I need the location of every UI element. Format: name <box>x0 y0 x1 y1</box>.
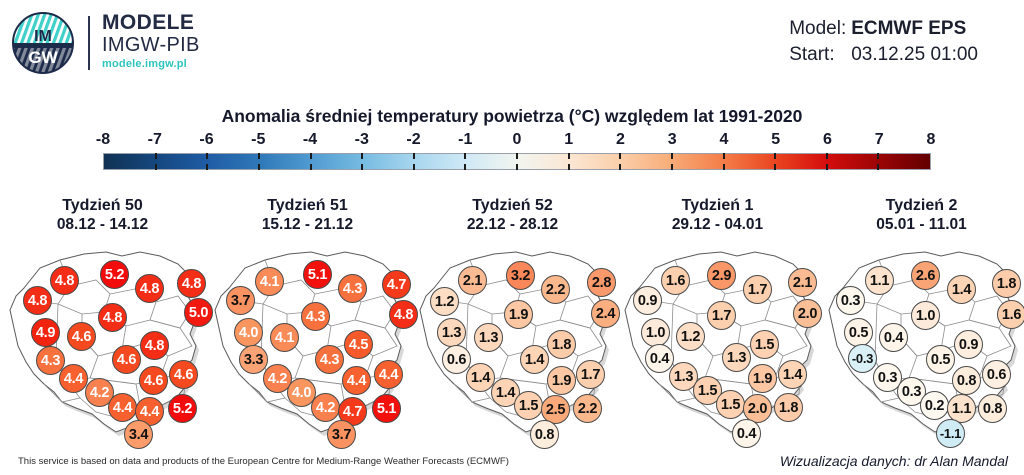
colorbar-dash <box>206 164 208 170</box>
anomaly-bubble: 2.8 <box>587 268 616 297</box>
week-label: Tydzień 52 <box>410 196 615 215</box>
anomaly-bubble: 3.7 <box>226 286 255 315</box>
anomaly-bubble: 3.2 <box>506 261 535 290</box>
colorbar-tick--4: -4 <box>303 131 317 149</box>
logo-divider <box>88 16 90 70</box>
anomaly-bubble: 1.1 <box>865 266 894 295</box>
anomaly-bubble: 4.4 <box>342 366 371 395</box>
anomaly-bubble: 4.6 <box>169 360 198 389</box>
anomaly-bubble: 0.2 <box>920 391 949 420</box>
poland-map: 4.85.24.84.84.85.04.84.94.64.84.34.64.44… <box>0 242 205 442</box>
anomaly-bubble: -1.1 <box>936 419 965 448</box>
anomaly-bubble: 1.4 <box>520 345 549 374</box>
weather-anomaly-infographic: IM GW MODELE IMGW-PIB modele.imgw.pl Mod… <box>0 0 1024 475</box>
colorbar-tick--8: -8 <box>96 131 110 149</box>
colorbar-tick-7: 7 <box>875 131 884 149</box>
imgw-circle-logo-icon: IM GW <box>12 12 74 74</box>
anomaly-bubble: 0.3 <box>836 286 865 315</box>
colorbar-tick-0: 0 <box>513 131 522 149</box>
anomaly-bubble: 0.6 <box>982 360 1011 389</box>
date-range-label: 22.12 - 28.12 <box>410 215 615 234</box>
colorbar-dash <box>826 164 828 170</box>
colorbar-dash <box>310 153 312 159</box>
anomaly-bubble: 2.1 <box>458 266 487 295</box>
anomaly-bubble: 4.5 <box>344 330 373 359</box>
anomaly-bubble: 1.5 <box>750 330 779 359</box>
anomaly-bubble: 1.4 <box>947 275 976 304</box>
colorbar-tick--2: -2 <box>406 131 420 149</box>
anomaly-bubble: 4.3 <box>338 274 367 303</box>
colorbar-dash <box>774 164 776 170</box>
anomaly-bubble: 2.0 <box>793 299 822 328</box>
colorbar-dash <box>877 164 879 170</box>
anomaly-bubble: 4.4 <box>59 364 88 393</box>
model-label: Model: <box>789 16 851 42</box>
colorbar-dash <box>155 153 157 159</box>
anomaly-bubble: 5.2 <box>168 394 197 423</box>
anomaly-bubble: 0.5 <box>844 318 873 347</box>
colorbar-tick--3: -3 <box>355 131 369 149</box>
colorbar-dash <box>619 164 621 170</box>
anomaly-bubble: 2.2 <box>541 275 570 304</box>
colorbar-dash <box>258 153 260 159</box>
anomaly-bubble: 0.4 <box>645 344 674 373</box>
anomaly-bubble: 0.8 <box>978 394 1007 423</box>
brand-logo[interactable]: IM GW MODELE IMGW-PIB modele.imgw.pl <box>12 12 272 76</box>
colorbar-tick-1: 1 <box>564 131 573 149</box>
week-label: Tydzień 2 <box>819 196 1024 215</box>
colorbar-tick-6: 6 <box>823 131 832 149</box>
anomaly-bubble: 4.8 <box>140 331 169 360</box>
anomaly-bubble: 0.5 <box>926 345 955 374</box>
anomaly-bubble: 4.8 <box>50 266 79 295</box>
anomaly-bubble: 4.8 <box>177 269 206 298</box>
poland-map: 1.62.91.72.10.92.01.71.01.21.50.41.31.31… <box>615 242 820 442</box>
anomaly-bubble: 1.7 <box>707 301 736 330</box>
anomaly-bubble: 1.8 <box>547 330 576 359</box>
anomaly-bubble: 4.7 <box>382 270 411 299</box>
poland-map: 4.15.14.34.73.74.84.34.04.14.53.34.34.24… <box>205 242 410 442</box>
anomaly-bubble: 0.8 <box>952 366 981 395</box>
anomaly-bubble: 4.3 <box>315 345 344 374</box>
anomaly-bubble: 4.2 <box>311 393 340 422</box>
colorbar-tick--6: -6 <box>199 131 213 149</box>
anomaly-bubble: 1.3 <box>437 318 466 347</box>
colorbar-dash <box>413 164 415 170</box>
anomaly-bubble: 4.1 <box>255 267 284 296</box>
anomaly-bubble: 1.6 <box>997 300 1024 329</box>
colorbar-tick-4: 4 <box>720 131 729 149</box>
colorbar: -8-7-6-5-4-3-2-1012345678 <box>103 131 931 170</box>
map-panel-5: Tydzień 205.01 - 11.011.12.61.41.80.31.6… <box>819 196 1024 446</box>
anomaly-bubble: 1.3 <box>474 323 503 352</box>
colorbar-tick-3: 3 <box>668 131 677 149</box>
anomaly-bubble: 0.8 <box>530 420 559 449</box>
colorbar-tick-5: 5 <box>771 131 780 149</box>
colorbar-tick--1: -1 <box>458 131 472 149</box>
colorbar-dash <box>258 164 260 170</box>
model-row: Model: ECMWF EPS <box>789 16 978 42</box>
footer-credit: This service is based on data and produc… <box>18 456 509 467</box>
start-row: Start: 03.12.25 01:00 <box>789 42 978 68</box>
colorbar-dash <box>619 153 621 159</box>
anomaly-bubble: 3.7 <box>327 420 356 449</box>
colorbar-tick-labels: -8-7-6-5-4-3-2-1012345678 <box>103 131 931 153</box>
brand-url[interactable]: modele.imgw.pl <box>102 59 200 70</box>
colorbar-dash <box>361 164 363 170</box>
footer-author: Wizualizacja danych: dr Alan Mandal <box>780 453 1008 469</box>
colorbar-dash <box>723 153 725 159</box>
anomaly-bubble: 4.4 <box>374 360 403 389</box>
anomaly-bubble: 1.2 <box>676 322 705 351</box>
map-panel-header: Tydzień 5222.12 - 28.12 <box>410 196 615 234</box>
colorbar-dash <box>516 153 518 159</box>
anomaly-bubble: 4.4 <box>108 393 137 422</box>
colorbar-tick--7: -7 <box>148 131 162 149</box>
colorbar-dash <box>413 153 415 159</box>
anomaly-bubble: 1.9 <box>547 366 576 395</box>
model-info: Model: ECMWF EPS Start: 03.12.25 01:00 <box>789 16 978 68</box>
anomaly-bubble: 1.7 <box>743 275 772 304</box>
anomaly-bubble: 1.5 <box>716 390 745 419</box>
anomaly-bubble: 4.8 <box>135 274 164 303</box>
anomaly-bubble: 4.8 <box>98 303 127 332</box>
colorbar-dash <box>877 153 879 159</box>
map-panel-header: Tydzień 5008.12 - 14.12 <box>0 196 205 234</box>
colorbar-dash <box>671 153 673 159</box>
colorbar-dash <box>516 164 518 170</box>
colorbar-dash <box>310 164 312 170</box>
anomaly-bubble: 4.8 <box>23 286 52 315</box>
map-panel-4: Tydzień 129.12 - 04.011.62.91.72.10.92.0… <box>615 196 820 446</box>
anomaly-bubble: 2.9 <box>707 261 736 290</box>
anomaly-bubble: 1.8 <box>992 269 1021 298</box>
map-panels: Tydzień 5008.12 - 14.124.85.24.84.84.85.… <box>0 196 1024 446</box>
colorbar-dash <box>464 153 466 159</box>
brand-line-2: IMGW-PIB <box>102 35 200 55</box>
map-panel-header: Tydzień 205.01 - 11.01 <box>819 196 1024 234</box>
anomaly-bubble: 4.6 <box>112 345 141 374</box>
anomaly-bubble: 5.2 <box>100 260 129 289</box>
map-panel-header: Tydzień 5115.12 - 21.12 <box>205 196 410 234</box>
anomaly-bubble: 1.4 <box>778 360 807 389</box>
colorbar-dash <box>774 153 776 159</box>
date-range-label: 05.01 - 11.01 <box>819 215 1024 234</box>
anomaly-bubble: 1.7 <box>576 360 605 389</box>
anomaly-bubble: 3.3 <box>239 345 268 374</box>
svg-text:IM: IM <box>34 28 52 45</box>
anomaly-bubble: 1.3 <box>722 343 751 372</box>
colorbar-dash <box>464 164 466 170</box>
anomaly-bubble: 4.6 <box>67 322 96 351</box>
date-range-label: 08.12 - 14.12 <box>0 215 205 234</box>
colorbar-dash <box>206 153 208 159</box>
anomaly-bubble: -0.3 <box>848 344 877 373</box>
anomaly-bubble: 1.6 <box>661 266 690 295</box>
anomaly-bubble: 1.0 <box>911 301 940 330</box>
date-range-label: 15.12 - 21.12 <box>205 215 410 234</box>
colorbar-dash <box>361 153 363 159</box>
colorbar-dash <box>671 164 673 170</box>
start-value: 03.12.25 01:00 <box>851 42 978 68</box>
anomaly-bubble: 0.4 <box>732 419 761 448</box>
poland-map: 1.12.61.41.80.31.61.00.50.40.9-0.30.50.3… <box>819 242 1024 442</box>
map-panel-1: Tydzień 5008.12 - 14.124.85.24.84.84.85.… <box>0 196 205 446</box>
anomaly-bubble: 3.4 <box>124 420 153 449</box>
anomaly-bubble: 1.2 <box>430 287 459 316</box>
anomaly-bubble: 0.4 <box>879 323 908 352</box>
week-label: Tydzień 51 <box>205 196 410 215</box>
anomaly-bubble: 5.1 <box>303 260 332 289</box>
anomaly-bubble: 0.6 <box>442 345 471 374</box>
map-panel-header: Tydzień 129.12 - 04.01 <box>615 196 820 234</box>
colorbar-gradient <box>103 153 931 170</box>
colorbar-dash <box>723 164 725 170</box>
start-label: Start: <box>789 42 851 68</box>
svg-text:GW: GW <box>28 48 58 67</box>
anomaly-bubble: 0.9 <box>954 330 983 359</box>
week-label: Tydzień 1 <box>615 196 820 215</box>
colorbar-title: Anomalia średniej temperatury powietrza … <box>0 106 1024 127</box>
anomaly-bubble: 5.1 <box>372 394 401 423</box>
anomaly-bubble: 4.6 <box>139 366 168 395</box>
colorbar-tick--5: -5 <box>251 131 265 149</box>
anomaly-bubble: 2.2 <box>573 394 602 423</box>
anomaly-bubble: 4.3 <box>301 302 330 331</box>
anomaly-bubble: 4.0 <box>234 318 263 347</box>
anomaly-bubble: 1.8 <box>774 393 803 422</box>
map-panel-2: Tydzień 5115.12 - 21.124.15.14.34.73.74.… <box>205 196 410 446</box>
colorbar-dash <box>155 164 157 170</box>
colorbar-dash <box>568 164 570 170</box>
map-panel-3: Tydzień 5222.12 - 28.122.13.22.22.81.22.… <box>410 196 615 446</box>
week-label: Tydzień 50 <box>0 196 205 215</box>
colorbar-dash <box>568 153 570 159</box>
anomaly-bubble: 2.1 <box>788 268 817 297</box>
date-range-label: 29.12 - 04.01 <box>615 215 820 234</box>
colorbar-tick-2: 2 <box>616 131 625 149</box>
anomaly-bubble: 1.5 <box>514 391 543 420</box>
anomaly-bubble: 4.9 <box>31 318 60 347</box>
anomaly-bubble: 1.0 <box>641 318 670 347</box>
anomaly-bubble: 4.1 <box>270 323 299 352</box>
model-value: ECMWF EPS <box>851 16 966 42</box>
anomaly-bubble: 2.6 <box>911 261 940 290</box>
anomaly-bubble: 1.9 <box>504 300 533 329</box>
colorbar-tick-8: 8 <box>927 131 936 149</box>
poland-map: 2.13.22.22.81.22.41.91.31.31.80.61.41.41… <box>410 242 615 442</box>
colorbar-dash <box>826 153 828 159</box>
brand-line-1: MODELE <box>102 12 200 33</box>
anomaly-bubble: 1.9 <box>748 364 777 393</box>
anomaly-bubble: 0.9 <box>633 286 662 315</box>
